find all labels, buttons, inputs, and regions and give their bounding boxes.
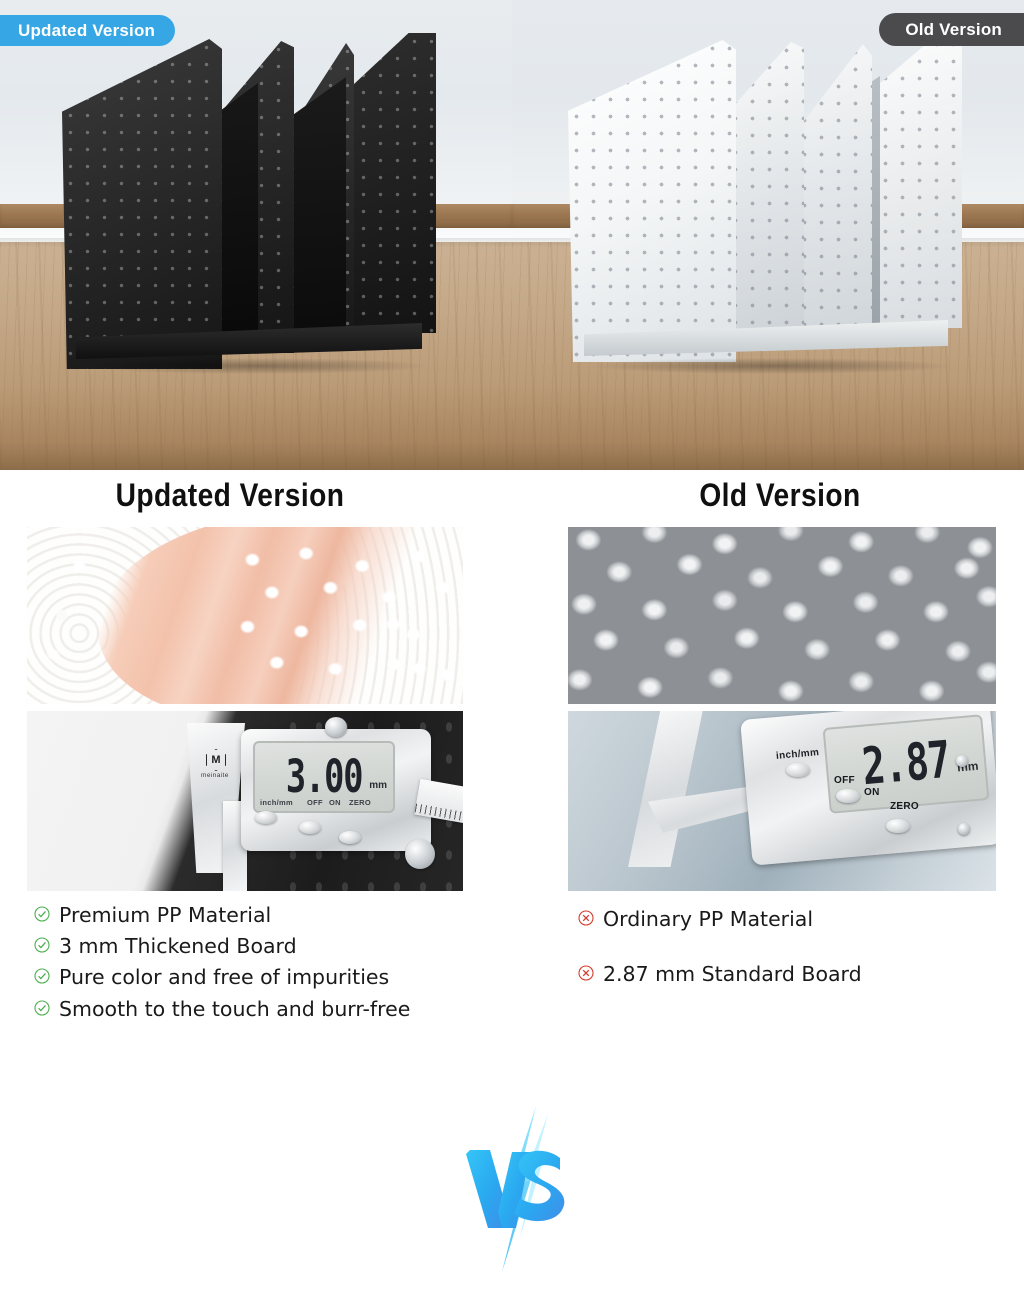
left-pellet-photo [27, 527, 463, 704]
white-file-organizer [568, 30, 976, 378]
badge-old-label: Old Version [905, 20, 1002, 40]
check-circle-icon [34, 1000, 50, 1016]
caliper-locking-wheel-icon [405, 839, 435, 869]
cross-circle-icon [578, 965, 594, 981]
left-caliper-btn-zero: ZERO [349, 798, 371, 807]
hero-left-photo [0, 0, 512, 470]
vs-graphic: VS [462, 1088, 568, 1288]
left-caliper-btn-on: ON [329, 798, 341, 807]
caliper-button-2 [299, 821, 321, 834]
comparison-left-title: Updated Version [28, 477, 433, 514]
product-shadow [592, 358, 951, 374]
caliper-button-3 [886, 819, 910, 833]
organizer-divider-3 [796, 44, 872, 336]
check-circle-icon [34, 937, 50, 953]
left-caliper-mode-label: inch/mm [260, 798, 293, 807]
caliper-screw-top-icon [956, 755, 968, 767]
perforation-pattern [62, 39, 222, 369]
comparison-right-title: Old Version [586, 477, 973, 514]
list-item: Ordinary PP Material [578, 906, 998, 932]
caliper-screw-bottom-icon [958, 823, 970, 835]
caliper-button-1 [255, 811, 277, 824]
feature-label: 3 mm Thickened Board [59, 933, 297, 959]
left-caliper-btn-off: OFF [307, 798, 323, 807]
caliper-brand-name: meinaite [201, 772, 229, 779]
left-feature-list: Premium PP Material 3 mm Thickened Board… [34, 902, 504, 1027]
feature-label: Smooth to the touch and burr-free [59, 996, 410, 1022]
check-circle-icon [34, 906, 50, 922]
perforation-pattern [568, 40, 736, 362]
feature-label: Premium PP Material [59, 902, 271, 928]
pellets-in-palm [228, 541, 463, 697]
caliper-button-3 [339, 831, 361, 844]
perforation-pattern [796, 44, 872, 336]
hero-photo-band: Updated Version Old Version [0, 0, 1024, 470]
right-caliper-btn-off: OFF [834, 775, 855, 786]
caliper-brand-logo-icon: M [206, 749, 226, 771]
check-circle-icon [34, 968, 50, 984]
right-caliper-btn-on: ON [864, 787, 880, 798]
right-caliper-photo: 2.87 mm inch/mm OFF ON ZERO [568, 711, 996, 891]
comparison-section: Updated Version Old Version M meinaite 3… [0, 470, 1024, 1010]
list-item: 2.87 mm Standard Board [578, 961, 998, 987]
right-caliper-btn-zero: ZERO [890, 801, 919, 812]
feature-label: Ordinary PP Material [603, 906, 813, 932]
list-item: Smooth to the touch and burr-free [34, 996, 504, 1022]
caliper-button-2 [836, 789, 860, 803]
left-caliper-value: 3.00 [286, 751, 362, 804]
list-item: 3 mm Thickened Board [34, 933, 504, 959]
right-feature-list: Ordinary PP Material 2.87 mm Standard Bo… [578, 906, 998, 1016]
feature-label: 2.87 mm Standard Board [603, 961, 862, 987]
badge-updated-label: Updated Version [18, 21, 155, 41]
feature-label: Pure color and free of impurities [59, 964, 389, 990]
gray-pellets [568, 527, 996, 704]
organizer-side-panel-front [568, 40, 736, 362]
black-file-organizer [62, 25, 452, 380]
organizer-side-panel-front [62, 39, 222, 369]
right-pellet-photo [568, 527, 996, 704]
list-item: Pure color and free of impurities [34, 964, 504, 990]
caliper-thumb-screw-icon [325, 717, 347, 737]
left-caliper-unit: mm [369, 780, 387, 791]
left-caliper-lcd: 3.00 mm inch/mm OFF ON ZERO [253, 741, 395, 813]
product-shadow [85, 358, 428, 374]
list-item: Premium PP Material [34, 902, 504, 928]
cross-circle-icon [578, 910, 594, 926]
badge-old-version: Old Version [879, 13, 1024, 46]
left-caliper-photo: M meinaite 3.00 mm inch/mm OFF ON ZERO [27, 711, 463, 891]
caliper-button-1 [786, 763, 810, 777]
hero-right-photo [512, 0, 1024, 470]
badge-updated-version: Updated Version [0, 15, 175, 46]
